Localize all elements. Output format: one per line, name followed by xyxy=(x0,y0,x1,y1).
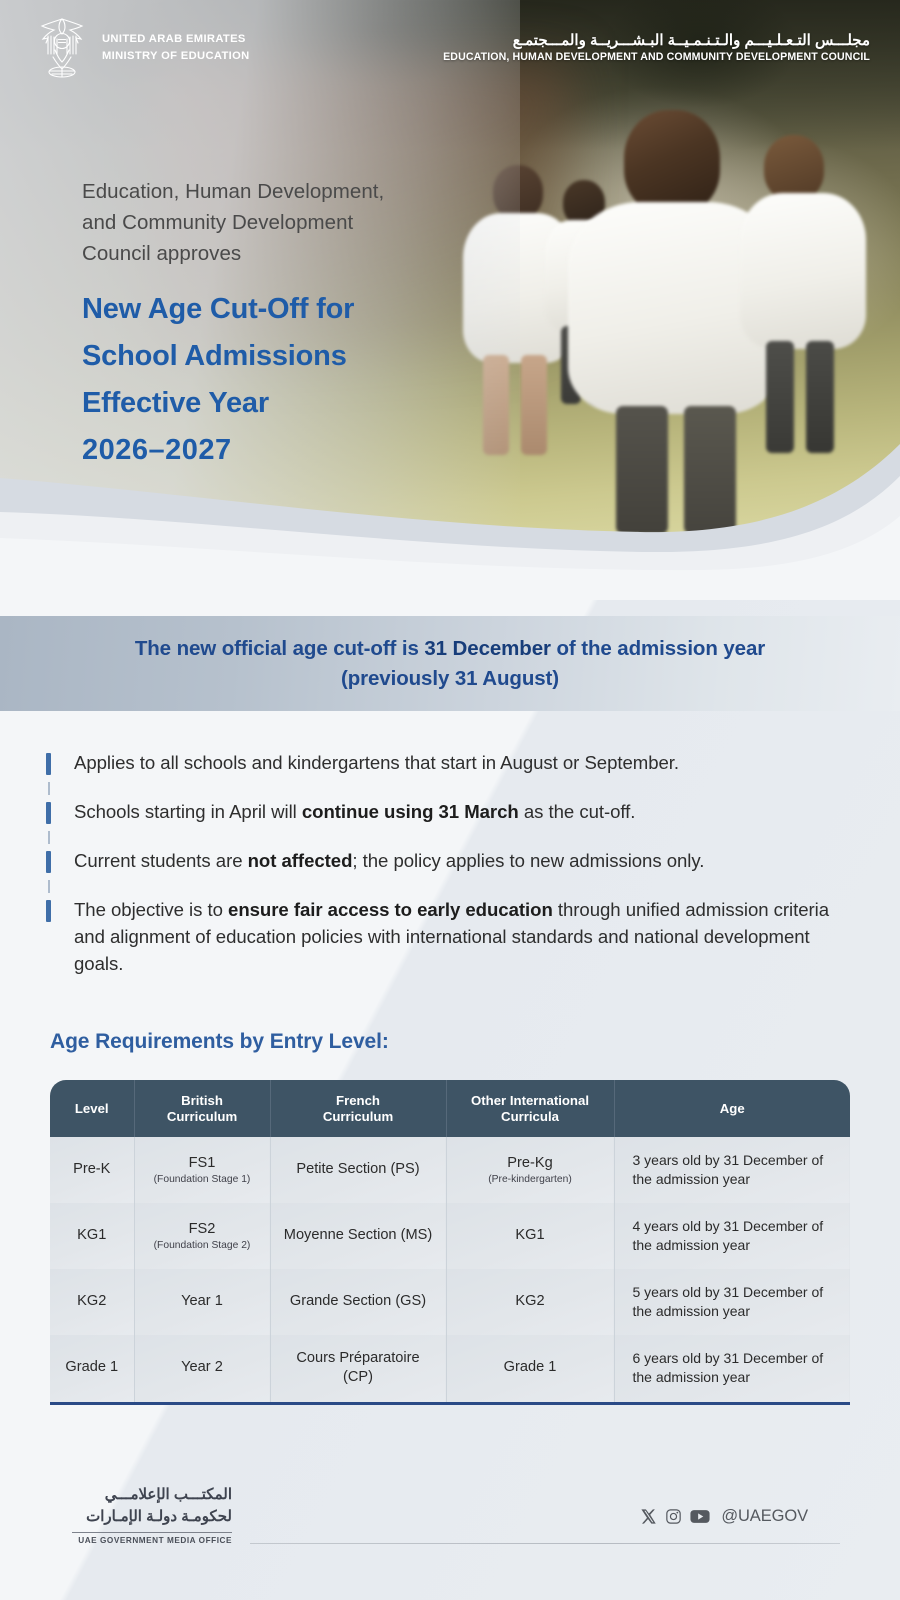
bullet-marker-icon xyxy=(46,802,51,824)
bullet-text-a: Schools starting in April will xyxy=(74,801,302,822)
cutoff-banner: The new official age cut-off is 31 Decem… xyxy=(0,616,900,711)
bullet-text-a: Current students are xyxy=(74,850,248,871)
bullet-text-bold: ensure fair access to early education xyxy=(228,899,553,920)
cutoff-text-before: The new official age cut-off is xyxy=(135,637,425,660)
column-header-british: British Curriculum xyxy=(134,1080,270,1137)
cell-british: Year 2 xyxy=(134,1335,270,1402)
column-header-other: Other International Curricula xyxy=(446,1080,614,1137)
cell-french: Moyenne Section (MS) xyxy=(270,1203,446,1269)
page-footer: المكتـــب الإعلامـــي لحكومـة دولـة الإم… xyxy=(0,1460,900,1600)
table-row: Grade 1 Year 2 Cours Préparatoire (CP) G… xyxy=(50,1335,850,1402)
cell-age: 4 years old by 31 December of the admiss… xyxy=(614,1203,850,1269)
column-header-other-line2: Curricula xyxy=(501,1109,559,1124)
list-item: Current students are not affected; the p… xyxy=(46,848,856,875)
ministry-header-bar: UNITED ARAB EMIRATES MINISTRY OF EDUCATI… xyxy=(0,0,900,95)
youtube-icon[interactable] xyxy=(690,1508,710,1525)
column-header-british-line2: Curriculum xyxy=(167,1109,237,1124)
cell-level: KG1 xyxy=(50,1203,134,1269)
cell-british-main: Year 1 xyxy=(181,1293,223,1309)
bullet-text: Applies to all schools and kindergartens… xyxy=(74,750,856,777)
council-name: مجلـــس التـعـلـيـــم والـتـنـمـيــة الب… xyxy=(443,32,870,64)
cell-level: Grade 1 xyxy=(50,1335,134,1402)
bullet-connector-icon xyxy=(48,782,50,795)
hero-title-line-2: School Admissions xyxy=(82,333,482,380)
cutoff-banner-line-1: The new official age cut-off is 31 Decem… xyxy=(135,637,765,661)
cell-other: Grade 1 xyxy=(446,1335,614,1402)
bullet-marker-icon xyxy=(46,753,51,775)
bullet-text-bold: continue using 31 March xyxy=(302,801,519,822)
hero-kicker-line-2: and Community Development xyxy=(82,207,482,238)
cell-british-main: Year 2 xyxy=(181,1359,223,1375)
hero-headline-block: Education, Human Development, and Commun… xyxy=(82,176,482,474)
column-header-level: Level xyxy=(50,1080,134,1137)
bullet-text: Current students are not affected; the p… xyxy=(74,848,856,875)
hero-title-line-1: New Age Cut-Off for xyxy=(82,286,482,333)
cell-other: Pre-Kg (Pre-kindergarten) xyxy=(446,1137,614,1203)
cell-other-sub: (Pre-kindergarten) xyxy=(456,1174,605,1186)
hero-title: New Age Cut-Off for School Admissions Ef… xyxy=(82,286,482,474)
cell-age: 3 years old by 31 December of the admiss… xyxy=(614,1137,850,1203)
list-item: Schools starting in April will continue … xyxy=(46,799,856,826)
council-name-arabic: مجلـــس التـعـلـيـــم والـتـنـمـيــة الب… xyxy=(443,32,870,51)
column-header-age: Age xyxy=(614,1080,850,1137)
bullet-text-c: as the cut-off. xyxy=(519,801,636,822)
cell-level: KG2 xyxy=(50,1269,134,1335)
cutoff-banner-line-2: (previously 31 August) xyxy=(341,667,559,691)
media-office-arabic-line1: المكتـــب الإعلامـــي xyxy=(72,1484,232,1506)
bullet-text-bold: not affected xyxy=(248,850,353,871)
ministry-name: UNITED ARAB EMIRATES MINISTRY OF EDUCATI… xyxy=(102,31,250,63)
bullet-marker-icon xyxy=(46,900,51,922)
infographic-page: UNITED ARAB EMIRATES MINISTRY OF EDUCATI… xyxy=(0,0,900,1600)
council-name-english: EDUCATION, HUMAN DEVELOPMENT AND COMMUNI… xyxy=(443,51,870,63)
cutoff-text-after: of the admission year xyxy=(551,637,765,660)
column-header-french-line1: French xyxy=(336,1093,380,1108)
cell-british-main: FS1 xyxy=(189,1155,216,1171)
table-row: KG2 Year 1 Grande Section (GS) KG2 5 yea… xyxy=(50,1269,850,1335)
table-row: KG1 FS2 (Foundation Stage 2) Moyenne Sec… xyxy=(50,1203,850,1269)
cell-british: FS2 (Foundation Stage 2) xyxy=(134,1203,270,1269)
bullet-text: The objective is to ensure fair access t… xyxy=(74,897,856,978)
cell-age: 5 years old by 31 December of the admiss… xyxy=(614,1269,850,1335)
hero-title-line-3: Effective Year xyxy=(82,380,482,427)
table-row: Pre-K FS1 (Foundation Stage 1) Petite Se… xyxy=(50,1137,850,1203)
hero-kicker-line-1: Education, Human Development, xyxy=(82,176,482,207)
media-office-arabic-line2: لحكومـة دولـة الإمـارات xyxy=(72,1506,232,1528)
list-item: The objective is to ensure fair access t… xyxy=(46,897,856,978)
cell-other-main: KG2 xyxy=(515,1293,544,1309)
cell-british: FS1 (Foundation Stage 1) xyxy=(134,1137,270,1203)
bullet-text-c: ; the policy applies to new admissions o… xyxy=(352,850,704,871)
cell-french: Cours Préparatoire (CP) xyxy=(270,1335,446,1402)
hero-kicker: Education, Human Development, and Commun… xyxy=(82,176,482,269)
table-section-title: Age Requirements by Entry Level: xyxy=(50,1030,389,1054)
cutoff-date-highlight: 31 December xyxy=(424,637,551,660)
hero-title-year: 2026–2027 xyxy=(82,427,482,474)
cell-french: Grande Section (GS) xyxy=(270,1269,446,1335)
bullet-connector-icon xyxy=(48,831,50,844)
cell-british-sub: (Foundation Stage 1) xyxy=(144,1174,261,1186)
media-office-english: UAE GOVERNMENT MEDIA OFFICE xyxy=(72,1536,232,1545)
x-twitter-icon[interactable] xyxy=(640,1508,657,1525)
footer-divider xyxy=(250,1543,840,1544)
cell-british-sub: (Foundation Stage 2) xyxy=(144,1240,261,1252)
cell-level: Pre-K xyxy=(50,1137,134,1203)
bullet-text-a: Applies to all schools and kindergartens… xyxy=(74,752,679,773)
key-points-list: Applies to all schools and kindergartens… xyxy=(46,750,856,978)
cell-other: KG1 xyxy=(446,1203,614,1269)
column-header-british-line1: British xyxy=(181,1093,223,1108)
cell-age: 6 years old by 31 December of the admiss… xyxy=(614,1335,850,1402)
ministry-line-1: UNITED ARAB EMIRATES xyxy=(102,31,250,47)
media-logo-divider xyxy=(72,1532,232,1533)
cell-french: Petite Section (PS) xyxy=(270,1137,446,1203)
social-links[interactable]: @UAEGOV xyxy=(640,1507,808,1526)
uae-falcon-emblem-icon xyxy=(36,14,88,82)
social-handle[interactable]: @UAEGOV xyxy=(721,1507,808,1526)
column-header-other-line1: Other International xyxy=(471,1093,589,1108)
bullet-connector-icon xyxy=(48,880,50,893)
age-requirements-table: Level British Curriculum French Curricul… xyxy=(50,1080,850,1405)
column-header-french-line2: Curriculum xyxy=(323,1109,393,1124)
cell-british: Year 1 xyxy=(134,1269,270,1335)
cell-other: KG2 xyxy=(446,1269,614,1335)
media-office-logo: المكتـــب الإعلامـــي لحكومـة دولـة الإم… xyxy=(72,1484,232,1545)
bullet-text-a: The objective is to xyxy=(74,899,228,920)
cell-other-main: Grade 1 xyxy=(504,1359,557,1375)
list-item: Applies to all schools and kindergartens… xyxy=(46,750,856,777)
cell-british-main: FS2 xyxy=(189,1221,216,1237)
hero-kicker-line-3: Council approves xyxy=(82,238,482,269)
bullet-marker-icon xyxy=(46,851,51,873)
cell-other-main: Pre-Kg xyxy=(507,1155,552,1171)
instagram-icon[interactable] xyxy=(665,1508,682,1525)
column-header-french: French Curriculum xyxy=(270,1080,446,1137)
ministry-line-2: MINISTRY OF EDUCATION xyxy=(102,48,250,64)
cell-other-main: KG1 xyxy=(515,1227,544,1243)
bullet-text: Schools starting in April will continue … xyxy=(74,799,856,826)
table-header-row: Level British Curriculum French Curricul… xyxy=(50,1080,850,1137)
